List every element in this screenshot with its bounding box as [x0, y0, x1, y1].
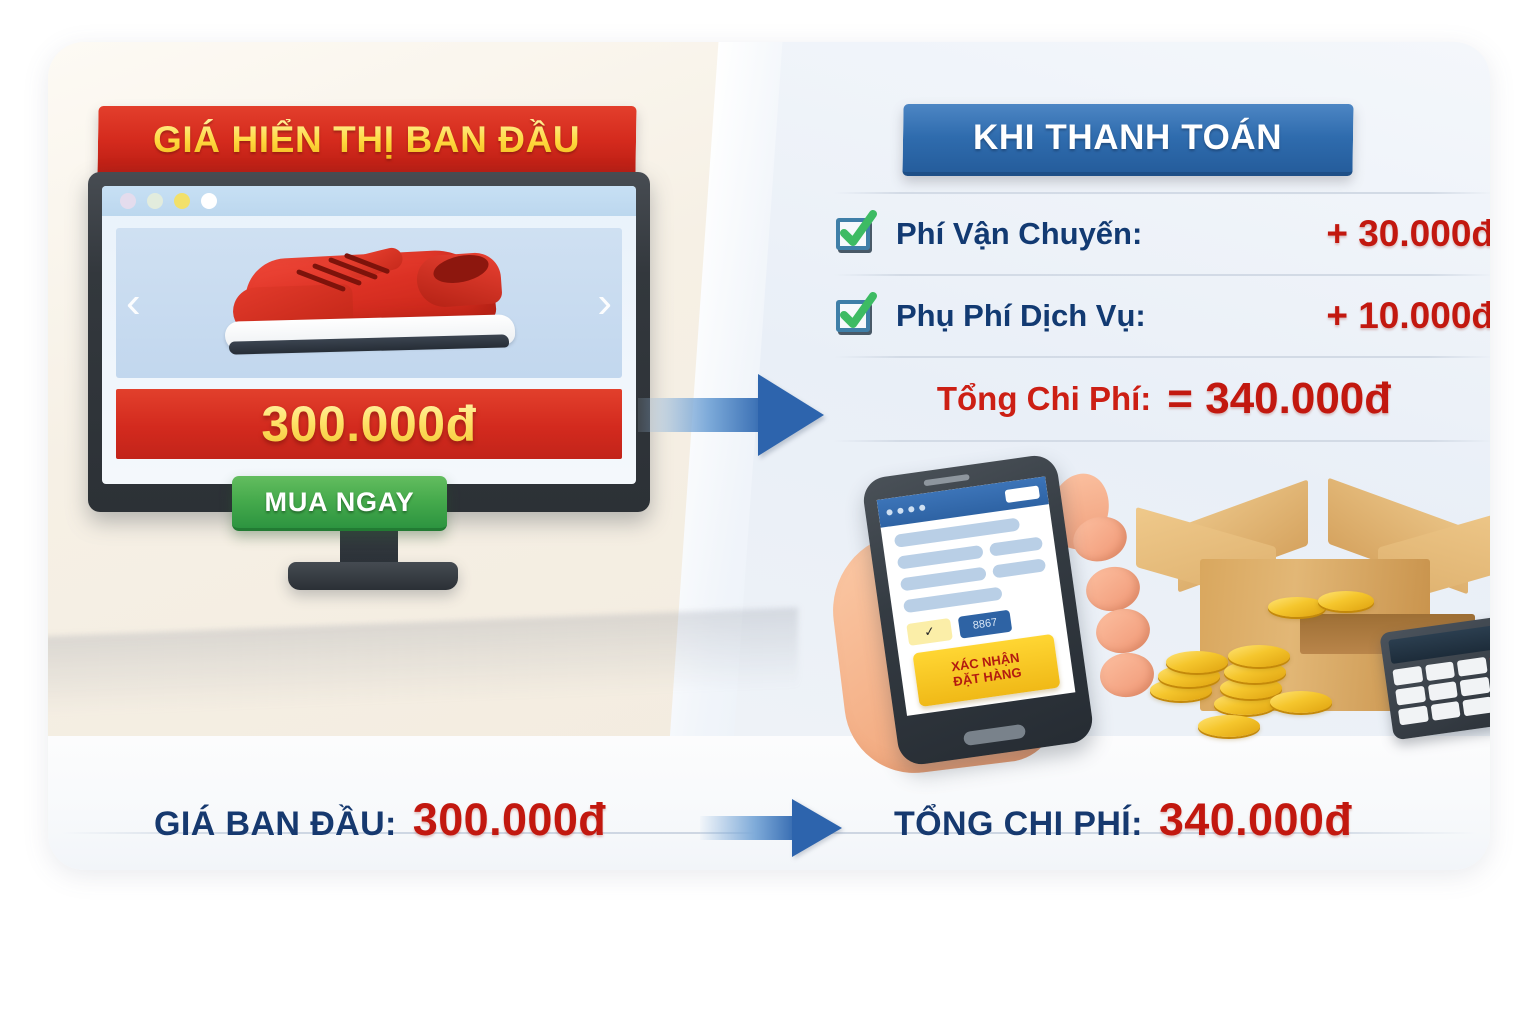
carousel-prev-icon[interactable]: ‹	[126, 281, 141, 325]
summary-total-cost: TỔNG CHI PHÍ: 340.000đ	[894, 794, 1352, 846]
phone-order-badge: 8867	[958, 610, 1013, 639]
phone-dot-icon	[886, 509, 893, 516]
calculator-key[interactable]	[1392, 666, 1422, 686]
checkbox-checked-icon[interactable]	[834, 214, 876, 254]
summary-arrow-icon	[700, 798, 850, 858]
phone-form-line	[903, 587, 1002, 614]
comparison-card: GIÁ HIỂN THỊ BAN ĐẦU KHI THANH TOÁN ‹	[48, 42, 1490, 870]
phone-checkbox-icon[interactable]: ✓	[906, 618, 953, 646]
phone-dot-icon	[897, 507, 904, 514]
fee-row-shipping: Phí Vận Chuyến: + 30.000đ	[834, 194, 1490, 274]
calculator-key[interactable]	[1425, 661, 1455, 681]
confirm-order-button[interactable]: XÁC NHẬN ĐẶT HÀNG	[912, 634, 1060, 707]
fee-amount: + 30.000đ	[1326, 213, 1490, 255]
browser-dot-icon	[120, 193, 136, 209]
product-image-area: ‹ ›	[116, 228, 622, 378]
infographic-canvas: GIÁ HIỂN THỊ BAN ĐẦU KHI THANH TOÁN ‹	[0, 0, 1536, 1024]
checkbox-checked-icon[interactable]	[834, 296, 876, 336]
phone-app-topbar	[877, 476, 1049, 527]
calculator-key[interactable]	[1462, 697, 1490, 717]
displayed-price-band: 300.000đ	[116, 389, 622, 459]
calculator-key[interactable]	[1489, 652, 1490, 672]
phone-dot-icon	[919, 504, 926, 511]
buy-now-button[interactable]: MUA NGAY	[232, 476, 447, 531]
calculator-key[interactable]	[1395, 686, 1425, 706]
summary-original-value: 300.000đ	[413, 794, 606, 846]
buy-now-label: MUA NGAY	[265, 487, 415, 518]
fee-label: Phí Vận Chuyến:	[896, 216, 1142, 252]
browser-titlebar	[102, 186, 636, 216]
summary-total-label: TỔNG CHI PHÍ:	[894, 805, 1143, 844]
red-sneaker-image	[219, 248, 519, 358]
coin-icon	[1228, 645, 1290, 667]
displayed-price-value: 300.000đ	[261, 395, 476, 453]
browser-dot-icon	[201, 193, 217, 209]
summary-original-label: GIÁ BAN ĐẦU:	[154, 805, 397, 844]
summary-original-price: GIÁ BAN ĐẦU: 300.000đ	[154, 794, 606, 846]
checkout-banner-label: KHI THANH TOÁN	[973, 118, 1282, 158]
calculator-key[interactable]	[1457, 657, 1487, 677]
phone-screen: ✓ 8867 XÁC NHẬN ĐẶT HÀNG	[877, 476, 1076, 716]
parcel-coins-calculator	[1128, 497, 1490, 762]
browser-dot-icon	[147, 193, 163, 209]
phone-topbar-chip	[1005, 485, 1040, 503]
calculator-key[interactable]	[1460, 677, 1490, 697]
calculator-keypad	[1392, 652, 1490, 725]
monitor-screen: ‹ › 300.000đ	[102, 186, 636, 484]
summary-total-value: 340.000đ	[1159, 794, 1352, 846]
calculator-key[interactable]	[1427, 681, 1457, 701]
calculator	[1379, 614, 1490, 741]
checkout-banner: KHI THANH TOÁN	[902, 104, 1353, 176]
fee-label: Phụ Phí Dịch Vụ:	[896, 298, 1146, 334]
total-cost-row: Tổng Chi Phí: = 340.000đ	[834, 358, 1490, 440]
coin-icon	[1270, 691, 1332, 713]
total-cost-amount: = 340.000đ	[1167, 374, 1391, 424]
coin-icon	[1166, 651, 1228, 673]
desktop-monitor: ‹ › 300.000đ	[88, 172, 650, 512]
total-cost-label: Tổng Chi Phí:	[937, 380, 1151, 418]
calculator-key[interactable]	[1398, 706, 1428, 726]
original-price-banner: GIÁ HIỂN THỊ BAN ĐẦU	[97, 106, 636, 178]
monitor-base	[288, 562, 458, 590]
carousel-next-icon[interactable]: ›	[597, 281, 612, 325]
fee-amount: + 10.000đ	[1326, 295, 1490, 337]
fee-row-service: Phụ Phí Dịch Vụ: + 10.000đ	[834, 276, 1490, 356]
flow-arrow-icon	[638, 372, 828, 456]
fee-divider	[834, 440, 1490, 442]
calculator-key[interactable]	[1430, 701, 1460, 721]
fee-breakdown-list: Phí Vận Chuyến: + 30.000đ Phụ Phí Dịch V…	[834, 192, 1490, 442]
browser-dot-icon	[174, 193, 190, 209]
phone-home-button[interactable]	[963, 724, 1026, 746]
coin-icon	[1318, 591, 1374, 611]
phone-dot-icon	[908, 506, 915, 513]
phone-speaker	[923, 474, 969, 486]
original-price-banner-label: GIÁ HIỂN THỊ BAN ĐẦU	[153, 119, 580, 161]
smartphone: ✓ 8867 XÁC NHẬN ĐẶT HÀNG	[861, 453, 1095, 767]
coin-icon	[1198, 715, 1260, 737]
